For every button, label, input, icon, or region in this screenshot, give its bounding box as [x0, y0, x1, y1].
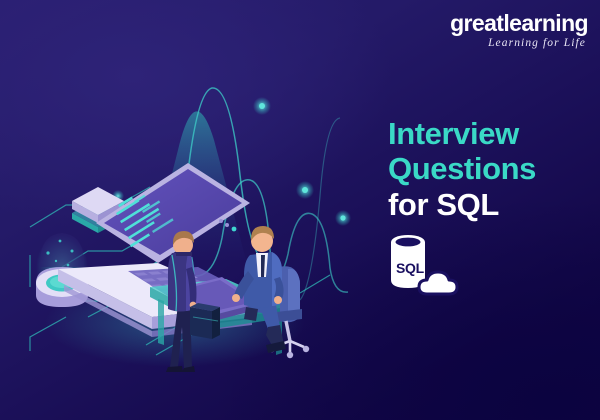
- sql-icon-svg: [383, 232, 463, 302]
- database-top-hole: [396, 238, 421, 247]
- interviewer-hand: [232, 294, 240, 302]
- title-line-2: Questions: [388, 151, 536, 186]
- screen-status-dots: [219, 219, 236, 231]
- title-line-3: for SQL: [388, 187, 536, 222]
- brand-name: greatlearning: [450, 12, 588, 35]
- brand-tagline: Learning for Life: [450, 38, 586, 50]
- isometric-interview-illustration: [0, 55, 360, 385]
- illustration: [0, 55, 360, 385]
- banner-root: greatlearning Learning for Life Intervie…: [0, 0, 600, 420]
- interviewer-hand: [274, 296, 282, 304]
- title-line-1: Interview: [388, 116, 536, 151]
- laptop-screen: [104, 169, 242, 255]
- page-title: Interview Questions for SQL: [388, 116, 536, 222]
- sql-database-icon: SQL: [383, 232, 463, 302]
- brand-logo: greatlearning Learning for Life: [450, 12, 588, 50]
- briefcase: [190, 303, 220, 339]
